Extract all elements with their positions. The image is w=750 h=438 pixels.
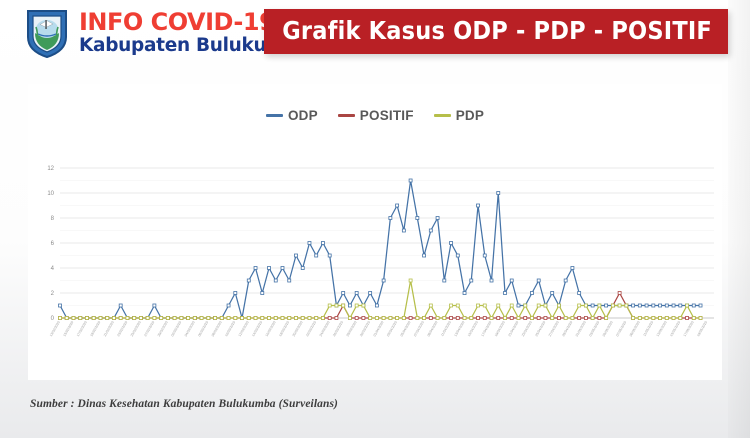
data-point-marker <box>241 317 244 320</box>
data-point-marker <box>463 317 466 320</box>
data-point-marker <box>214 317 217 320</box>
x-tick-label: 07/05/2020 <box>615 320 627 337</box>
data-point-marker <box>551 317 554 320</box>
x-tick-label: 03/05/2020 <box>588 320 600 337</box>
line-chart-svg: 024681012 13/02/202015/02/202017/02/2020… <box>28 84 722 380</box>
data-point-marker <box>59 304 62 307</box>
data-point-marker <box>153 317 156 320</box>
data-point-marker <box>106 317 109 320</box>
data-point-marker <box>692 317 695 320</box>
data-point-marker <box>510 304 513 307</box>
data-point-marker <box>578 292 581 295</box>
data-point-marker <box>686 304 689 307</box>
y-tick-label: 2 <box>51 291 55 297</box>
data-point-marker <box>328 317 331 320</box>
data-point-marker <box>220 317 223 320</box>
data-point-marker <box>268 267 271 270</box>
data-point-marker <box>584 317 587 320</box>
data-point-marker <box>254 317 257 320</box>
data-point-marker <box>450 317 453 320</box>
y-tick-label: 0 <box>51 316 55 322</box>
data-point-marker <box>99 317 102 320</box>
data-point-marker <box>301 267 304 270</box>
data-point-marker <box>268 317 271 320</box>
x-tick-label: 11/04/2020 <box>440 320 452 337</box>
data-point-marker <box>652 304 655 307</box>
data-point-marker <box>59 317 62 320</box>
data-point-marker <box>328 254 331 257</box>
data-point-marker <box>180 317 183 320</box>
data-point-marker <box>396 204 399 207</box>
data-point-marker <box>133 317 136 320</box>
chart-panel: ODP POSITIF PDP 024681012 13/02/202015/0… <box>28 84 722 380</box>
data-point-marker <box>477 304 480 307</box>
data-point-marker <box>429 304 432 307</box>
x-tick-label: 15/02/2020 <box>62 320 74 337</box>
data-point-marker <box>679 317 682 320</box>
data-point-marker <box>375 304 378 307</box>
data-point-marker <box>301 317 304 320</box>
data-point-marker <box>416 317 419 320</box>
chart-x-axis: 13/02/202015/02/202017/02/202019/02/2020… <box>49 320 708 337</box>
data-point-marker <box>524 304 527 307</box>
bulukumba-shield-emblem-icon <box>24 7 70 59</box>
data-point-marker <box>611 304 614 307</box>
x-tick-label: 02/03/2020 <box>170 320 182 337</box>
data-point-marker <box>281 317 284 320</box>
data-point-marker <box>517 304 520 307</box>
x-tick-label: 12/03/2020 <box>238 320 250 337</box>
data-point-marker <box>632 317 635 320</box>
data-point-marker <box>578 304 581 307</box>
data-point-marker <box>429 229 432 232</box>
data-point-marker <box>423 317 426 320</box>
data-point-marker <box>369 317 372 320</box>
data-point-marker <box>227 304 230 307</box>
data-point-marker <box>355 292 358 295</box>
data-point-marker <box>321 242 324 245</box>
data-point-marker <box>294 317 297 320</box>
data-point-marker <box>477 204 480 207</box>
data-point-marker <box>65 317 68 320</box>
data-point-marker <box>72 317 75 320</box>
data-point-marker <box>497 304 500 307</box>
data-point-marker <box>254 267 257 270</box>
x-tick-label: 14/03/2020 <box>251 320 263 337</box>
x-tick-label: 19/02/2020 <box>89 320 101 337</box>
series-line-pdp <box>60 281 701 319</box>
data-point-marker <box>618 292 621 295</box>
data-point-marker <box>153 304 156 307</box>
data-point-marker <box>598 304 601 307</box>
data-point-marker <box>456 304 459 307</box>
x-tick-label: 08/03/2020 <box>211 320 223 337</box>
data-point-marker <box>483 317 486 320</box>
x-tick-label: 24/03/2020 <box>319 320 331 337</box>
data-point-marker <box>288 317 291 320</box>
x-tick-label: 01/04/2020 <box>373 320 385 337</box>
x-tick-label: 25/04/2020 <box>534 320 546 337</box>
y-tick-label: 10 <box>47 191 54 197</box>
data-point-marker <box>166 317 169 320</box>
data-point-marker <box>146 317 149 320</box>
data-point-marker <box>409 279 412 282</box>
data-point-marker <box>402 229 405 232</box>
data-point-marker <box>335 304 338 307</box>
chart-series-layer <box>59 179 703 320</box>
data-point-marker <box>645 317 648 320</box>
data-point-marker <box>530 317 533 320</box>
x-tick-label: 05/04/2020 <box>400 320 412 337</box>
x-tick-label: 18/03/2020 <box>278 320 290 337</box>
data-point-marker <box>483 304 486 307</box>
data-point-marker <box>571 317 574 320</box>
data-point-marker <box>112 317 115 320</box>
x-tick-label: 30/03/2020 <box>359 320 371 337</box>
data-point-marker <box>92 317 95 320</box>
data-point-marker <box>679 304 682 307</box>
data-point-marker <box>160 317 163 320</box>
data-point-marker <box>564 279 567 282</box>
data-point-marker <box>328 304 331 307</box>
data-point-marker <box>551 292 554 295</box>
data-point-marker <box>645 304 648 307</box>
data-point-marker <box>665 317 668 320</box>
data-point-marker <box>692 304 695 307</box>
data-point-marker <box>652 317 655 320</box>
x-tick-label: 17/04/2020 <box>480 320 492 337</box>
x-tick-label: 06/03/2020 <box>197 320 209 337</box>
data-point-marker <box>605 317 608 320</box>
data-point-marker <box>348 317 351 320</box>
data-point-marker <box>463 292 466 295</box>
x-tick-label: 10/03/2020 <box>224 320 236 337</box>
chart-y-axis: 024681012 <box>47 166 54 322</box>
data-point-marker <box>274 317 277 320</box>
data-point-marker <box>227 317 230 320</box>
data-point-marker <box>557 304 560 307</box>
data-point-marker <box>382 317 385 320</box>
data-point-marker <box>355 304 358 307</box>
data-point-marker <box>503 292 506 295</box>
data-point-marker <box>79 317 82 320</box>
data-point-marker <box>234 292 237 295</box>
data-point-marker <box>564 317 567 320</box>
x-tick-label: 15/05/2020 <box>669 320 681 337</box>
x-tick-label: 22/03/2020 <box>305 320 317 337</box>
data-point-marker <box>423 254 426 257</box>
data-point-marker <box>436 217 439 220</box>
data-point-marker <box>544 317 547 320</box>
y-tick-label: 12 <box>47 166 54 172</box>
data-point-marker <box>119 304 122 307</box>
data-point-marker <box>625 304 628 307</box>
plot-area: 024681012 13/02/202015/02/202017/02/2020… <box>28 84 722 380</box>
data-point-marker <box>490 279 493 282</box>
x-tick-label: 09/04/2020 <box>426 320 438 337</box>
data-point-marker <box>571 267 574 270</box>
data-point-marker <box>436 317 439 320</box>
page-header: INFO COVID-19 Kabupaten Bulukumba Grafik… <box>0 0 750 68</box>
data-point-marker <box>348 304 351 307</box>
data-point-marker <box>659 317 662 320</box>
chart-title: Grafik Kasus ODP - PDP - POSITIF <box>282 16 712 45</box>
data-point-marker <box>193 317 196 320</box>
data-point-marker <box>699 304 702 307</box>
data-point-marker <box>497 192 500 195</box>
data-point-marker <box>443 279 446 282</box>
data-point-marker <box>483 254 486 257</box>
data-point-marker <box>578 317 581 320</box>
data-point-marker <box>470 317 473 320</box>
x-tick-label: 13/05/2020 <box>656 320 668 337</box>
data-point-marker <box>591 317 594 320</box>
chart-title-banner: Grafik Kasus ODP - PDP - POSITIF <box>264 9 728 54</box>
data-point-marker <box>315 254 318 257</box>
data-point-marker <box>429 317 432 320</box>
data-point-marker <box>530 292 533 295</box>
x-tick-label: 27/02/2020 <box>143 320 155 337</box>
data-point-marker <box>315 317 318 320</box>
x-tick-label: 25/02/2020 <box>130 320 142 337</box>
data-point-marker <box>389 217 392 220</box>
x-tick-label: 07/04/2020 <box>413 320 425 337</box>
x-tick-label: 21/02/2020 <box>103 320 115 337</box>
data-point-marker <box>234 317 237 320</box>
data-point-marker <box>369 292 372 295</box>
data-point-marker <box>294 254 297 257</box>
x-tick-label: 19/04/2020 <box>494 320 506 337</box>
x-tick-label: 13/02/2020 <box>49 320 61 337</box>
data-point-marker <box>510 317 513 320</box>
data-point-marker <box>591 304 594 307</box>
x-tick-label: 29/04/2020 <box>561 320 573 337</box>
data-point-marker <box>355 317 358 320</box>
data-point-marker <box>281 267 284 270</box>
data-point-marker <box>544 304 547 307</box>
x-tick-label: 28/03/2020 <box>346 320 358 337</box>
x-tick-label: 05/05/2020 <box>602 320 614 337</box>
x-tick-label: 04/03/2020 <box>184 320 196 337</box>
data-point-marker <box>207 317 210 320</box>
infographic-page: INFO COVID-19 Kabupaten Bulukumba Grafik… <box>0 0 750 438</box>
data-point-marker <box>187 317 190 320</box>
x-tick-label: 20/03/2020 <box>292 320 304 337</box>
x-tick-label: 13/04/2020 <box>453 320 465 337</box>
data-point-marker <box>247 317 250 320</box>
x-tick-label: 19/05/2020 <box>696 320 708 337</box>
x-tick-label: 09/05/2020 <box>629 320 641 337</box>
data-point-marker <box>605 304 608 307</box>
data-point-marker <box>139 317 142 320</box>
data-point-marker <box>510 279 513 282</box>
data-point-marker <box>362 317 365 320</box>
data-point-marker <box>537 279 540 282</box>
data-point-marker <box>638 304 641 307</box>
data-point-marker <box>672 304 675 307</box>
data-point-marker <box>335 317 338 320</box>
x-tick-label: 11/05/2020 <box>642 320 654 337</box>
data-point-marker <box>450 242 453 245</box>
data-point-marker <box>247 279 250 282</box>
y-tick-label: 8 <box>51 216 55 222</box>
data-point-marker <box>382 279 385 282</box>
y-tick-label: 4 <box>51 266 55 272</box>
data-point-marker <box>362 304 365 307</box>
x-tick-label: 15/04/2020 <box>467 320 479 337</box>
data-point-marker <box>450 304 453 307</box>
data-point-marker <box>443 317 446 320</box>
data-point-marker <box>85 317 88 320</box>
data-point-marker <box>665 304 668 307</box>
data-point-marker <box>308 317 311 320</box>
x-tick-label: 17/02/2020 <box>76 320 88 337</box>
x-tick-label: 26/03/2020 <box>332 320 344 337</box>
x-tick-label: 16/03/2020 <box>265 320 277 337</box>
x-tick-label: 23/04/2020 <box>521 320 533 337</box>
series-line-odp <box>60 181 701 319</box>
data-point-marker <box>470 279 473 282</box>
x-tick-label: 23/02/2020 <box>116 320 128 337</box>
data-point-marker <box>537 304 540 307</box>
data-point-marker <box>490 317 493 320</box>
data-point-marker <box>261 292 264 295</box>
data-point-marker <box>659 304 662 307</box>
data-point-marker <box>119 317 122 320</box>
data-point-marker <box>686 317 689 320</box>
data-point-marker <box>517 317 520 320</box>
data-point-marker <box>557 317 560 320</box>
data-point-marker <box>396 317 399 320</box>
data-point-marker <box>416 217 419 220</box>
x-tick-label: 29/02/2020 <box>157 320 169 337</box>
data-point-marker <box>537 317 540 320</box>
data-point-marker <box>126 317 129 320</box>
data-point-marker <box>672 317 675 320</box>
x-tick-label: 17/05/2020 <box>683 320 695 337</box>
data-point-marker <box>321 317 324 320</box>
source-note: Sumber : Dinas Kesehatan Kabupaten Buluk… <box>30 398 338 410</box>
data-point-marker <box>288 279 291 282</box>
data-point-marker <box>274 279 277 282</box>
x-tick-label: 01/05/2020 <box>575 320 587 337</box>
data-point-marker <box>409 317 412 320</box>
data-point-marker <box>173 317 176 320</box>
data-point-marker <box>342 304 345 307</box>
x-tick-label: 03/04/2020 <box>386 320 398 337</box>
data-point-marker <box>618 304 621 307</box>
data-point-marker <box>632 304 635 307</box>
data-point-marker <box>584 304 587 307</box>
data-point-marker <box>477 317 480 320</box>
data-point-marker <box>638 317 641 320</box>
data-point-marker <box>308 242 311 245</box>
data-point-marker <box>524 317 527 320</box>
x-tick-label: 21/04/2020 <box>507 320 519 337</box>
data-point-marker <box>456 254 459 257</box>
chart-gridlines <box>60 168 714 318</box>
x-tick-label: 27/04/2020 <box>548 320 560 337</box>
data-point-marker <box>497 317 500 320</box>
data-point-marker <box>389 317 392 320</box>
data-point-marker <box>409 179 412 182</box>
y-tick-label: 6 <box>51 241 55 247</box>
data-point-marker <box>200 317 203 320</box>
data-point-marker <box>402 317 405 320</box>
data-point-marker <box>598 317 601 320</box>
data-point-marker <box>261 317 264 320</box>
data-point-marker <box>375 317 378 320</box>
data-point-marker <box>699 317 702 320</box>
data-point-marker <box>342 292 345 295</box>
data-point-marker <box>456 317 459 320</box>
data-point-marker <box>503 317 506 320</box>
